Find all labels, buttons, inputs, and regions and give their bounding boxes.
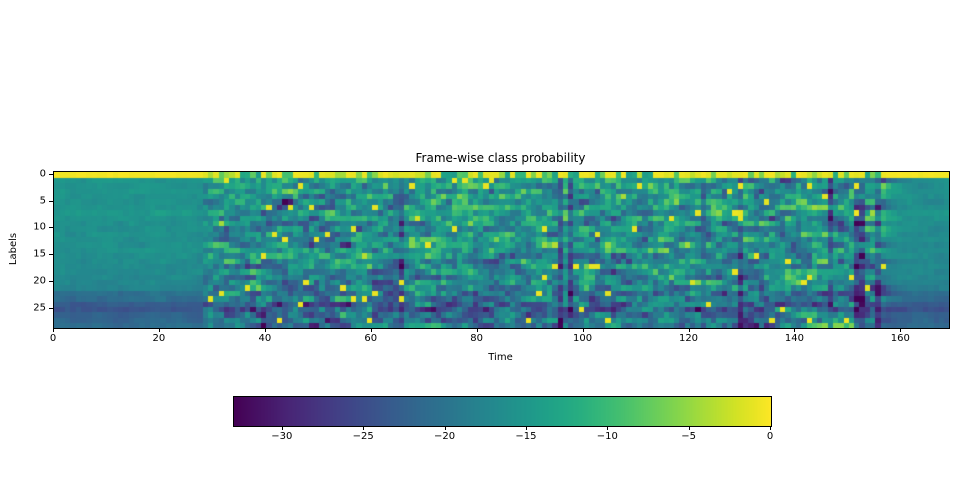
x-tick-label: 0 (50, 333, 56, 344)
colorbar-tick-mark (526, 426, 527, 430)
colorbar-tick-label: −30 (271, 431, 292, 442)
x-tick-mark (794, 328, 795, 332)
x-tick-mark (159, 328, 160, 332)
page-title: Frame-wise class probability (53, 151, 948, 165)
y-tick-mark (49, 254, 53, 255)
colorbar-tick-label: −25 (353, 431, 374, 442)
colorbar-tick-mark (282, 426, 283, 430)
colorbar-tick-label: 0 (767, 431, 773, 442)
y-tick-mark (49, 281, 53, 282)
x-tick-label: 120 (679, 333, 698, 344)
y-tick-mark (49, 174, 53, 175)
colorbar-tick-label: −15 (515, 431, 536, 442)
x-tick-label: 160 (891, 333, 910, 344)
x-tick-mark (265, 328, 266, 332)
y-axis-label: Labels (8, 219, 20, 279)
y-tick-mark (49, 201, 53, 202)
colorbar-tick-mark (689, 426, 690, 430)
y-tick-label: 5 (15, 195, 46, 206)
x-tick-label: 80 (470, 333, 483, 344)
x-tick-mark (477, 328, 478, 332)
x-tick-mark (689, 328, 690, 332)
x-tick-label: 40 (258, 333, 271, 344)
x-axis-label: Time (53, 352, 948, 364)
x-tick-label: 140 (785, 333, 804, 344)
heatmap-axes (53, 171, 950, 329)
x-tick-mark (53, 328, 54, 332)
colorbar-tick-mark (445, 426, 446, 430)
colorbar-tick-mark (607, 426, 608, 430)
colorbar-gradient (234, 397, 771, 426)
heatmap-image (54, 172, 949, 328)
x-tick-mark (900, 328, 901, 332)
colorbar (233, 396, 772, 427)
colorbar-tick-label: −5 (681, 431, 696, 442)
x-tick-mark (371, 328, 372, 332)
matplotlib-figure: Frame-wise class probability 02040608010… (0, 0, 960, 480)
colorbar-tick-mark (363, 426, 364, 430)
colorbar-tick-mark (770, 426, 771, 430)
colorbar-tick-label: −10 (597, 431, 618, 442)
x-tick-label: 20 (153, 333, 166, 344)
x-tick-label: 100 (573, 333, 592, 344)
y-tick-label: 0 (15, 168, 46, 179)
y-tick-mark (49, 308, 53, 309)
x-tick-label: 60 (364, 333, 377, 344)
x-tick-mark (583, 328, 584, 332)
y-tick-mark (49, 227, 53, 228)
colorbar-tick-label: −20 (434, 431, 455, 442)
y-tick-label: 25 (15, 303, 46, 314)
